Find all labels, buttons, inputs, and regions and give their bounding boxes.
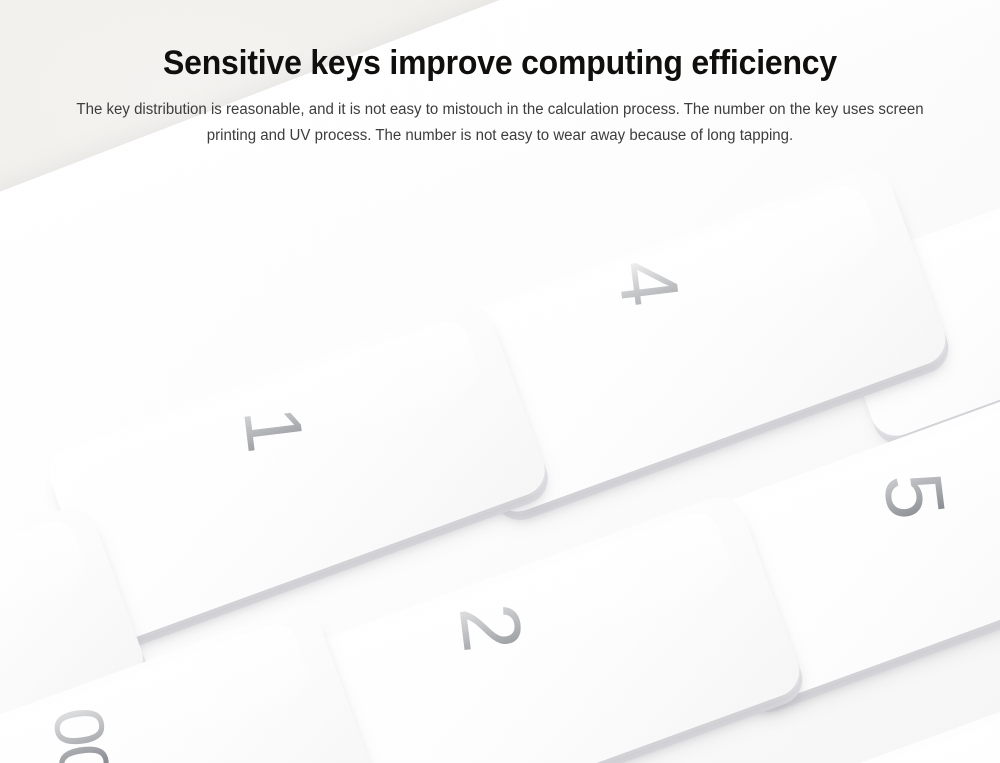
page-description: The key distribution is reasonable, and … bbox=[64, 97, 937, 149]
page-title: Sensitive keys improve computing efficie… bbox=[30, 0, 970, 83]
banner-text-block: Sensitive keys improve computing efficie… bbox=[0, 0, 1000, 180]
product-feature-banner: 4 1 5 2 00 3 bbox=[0, 0, 1000, 763]
key-label-00: 00 bbox=[37, 703, 125, 763]
key-label-5: 5 bbox=[864, 468, 963, 525]
key-label-1: 1 bbox=[225, 402, 322, 457]
key-label-2: 2 bbox=[440, 598, 542, 656]
key-label-4: 4 bbox=[598, 254, 697, 311]
